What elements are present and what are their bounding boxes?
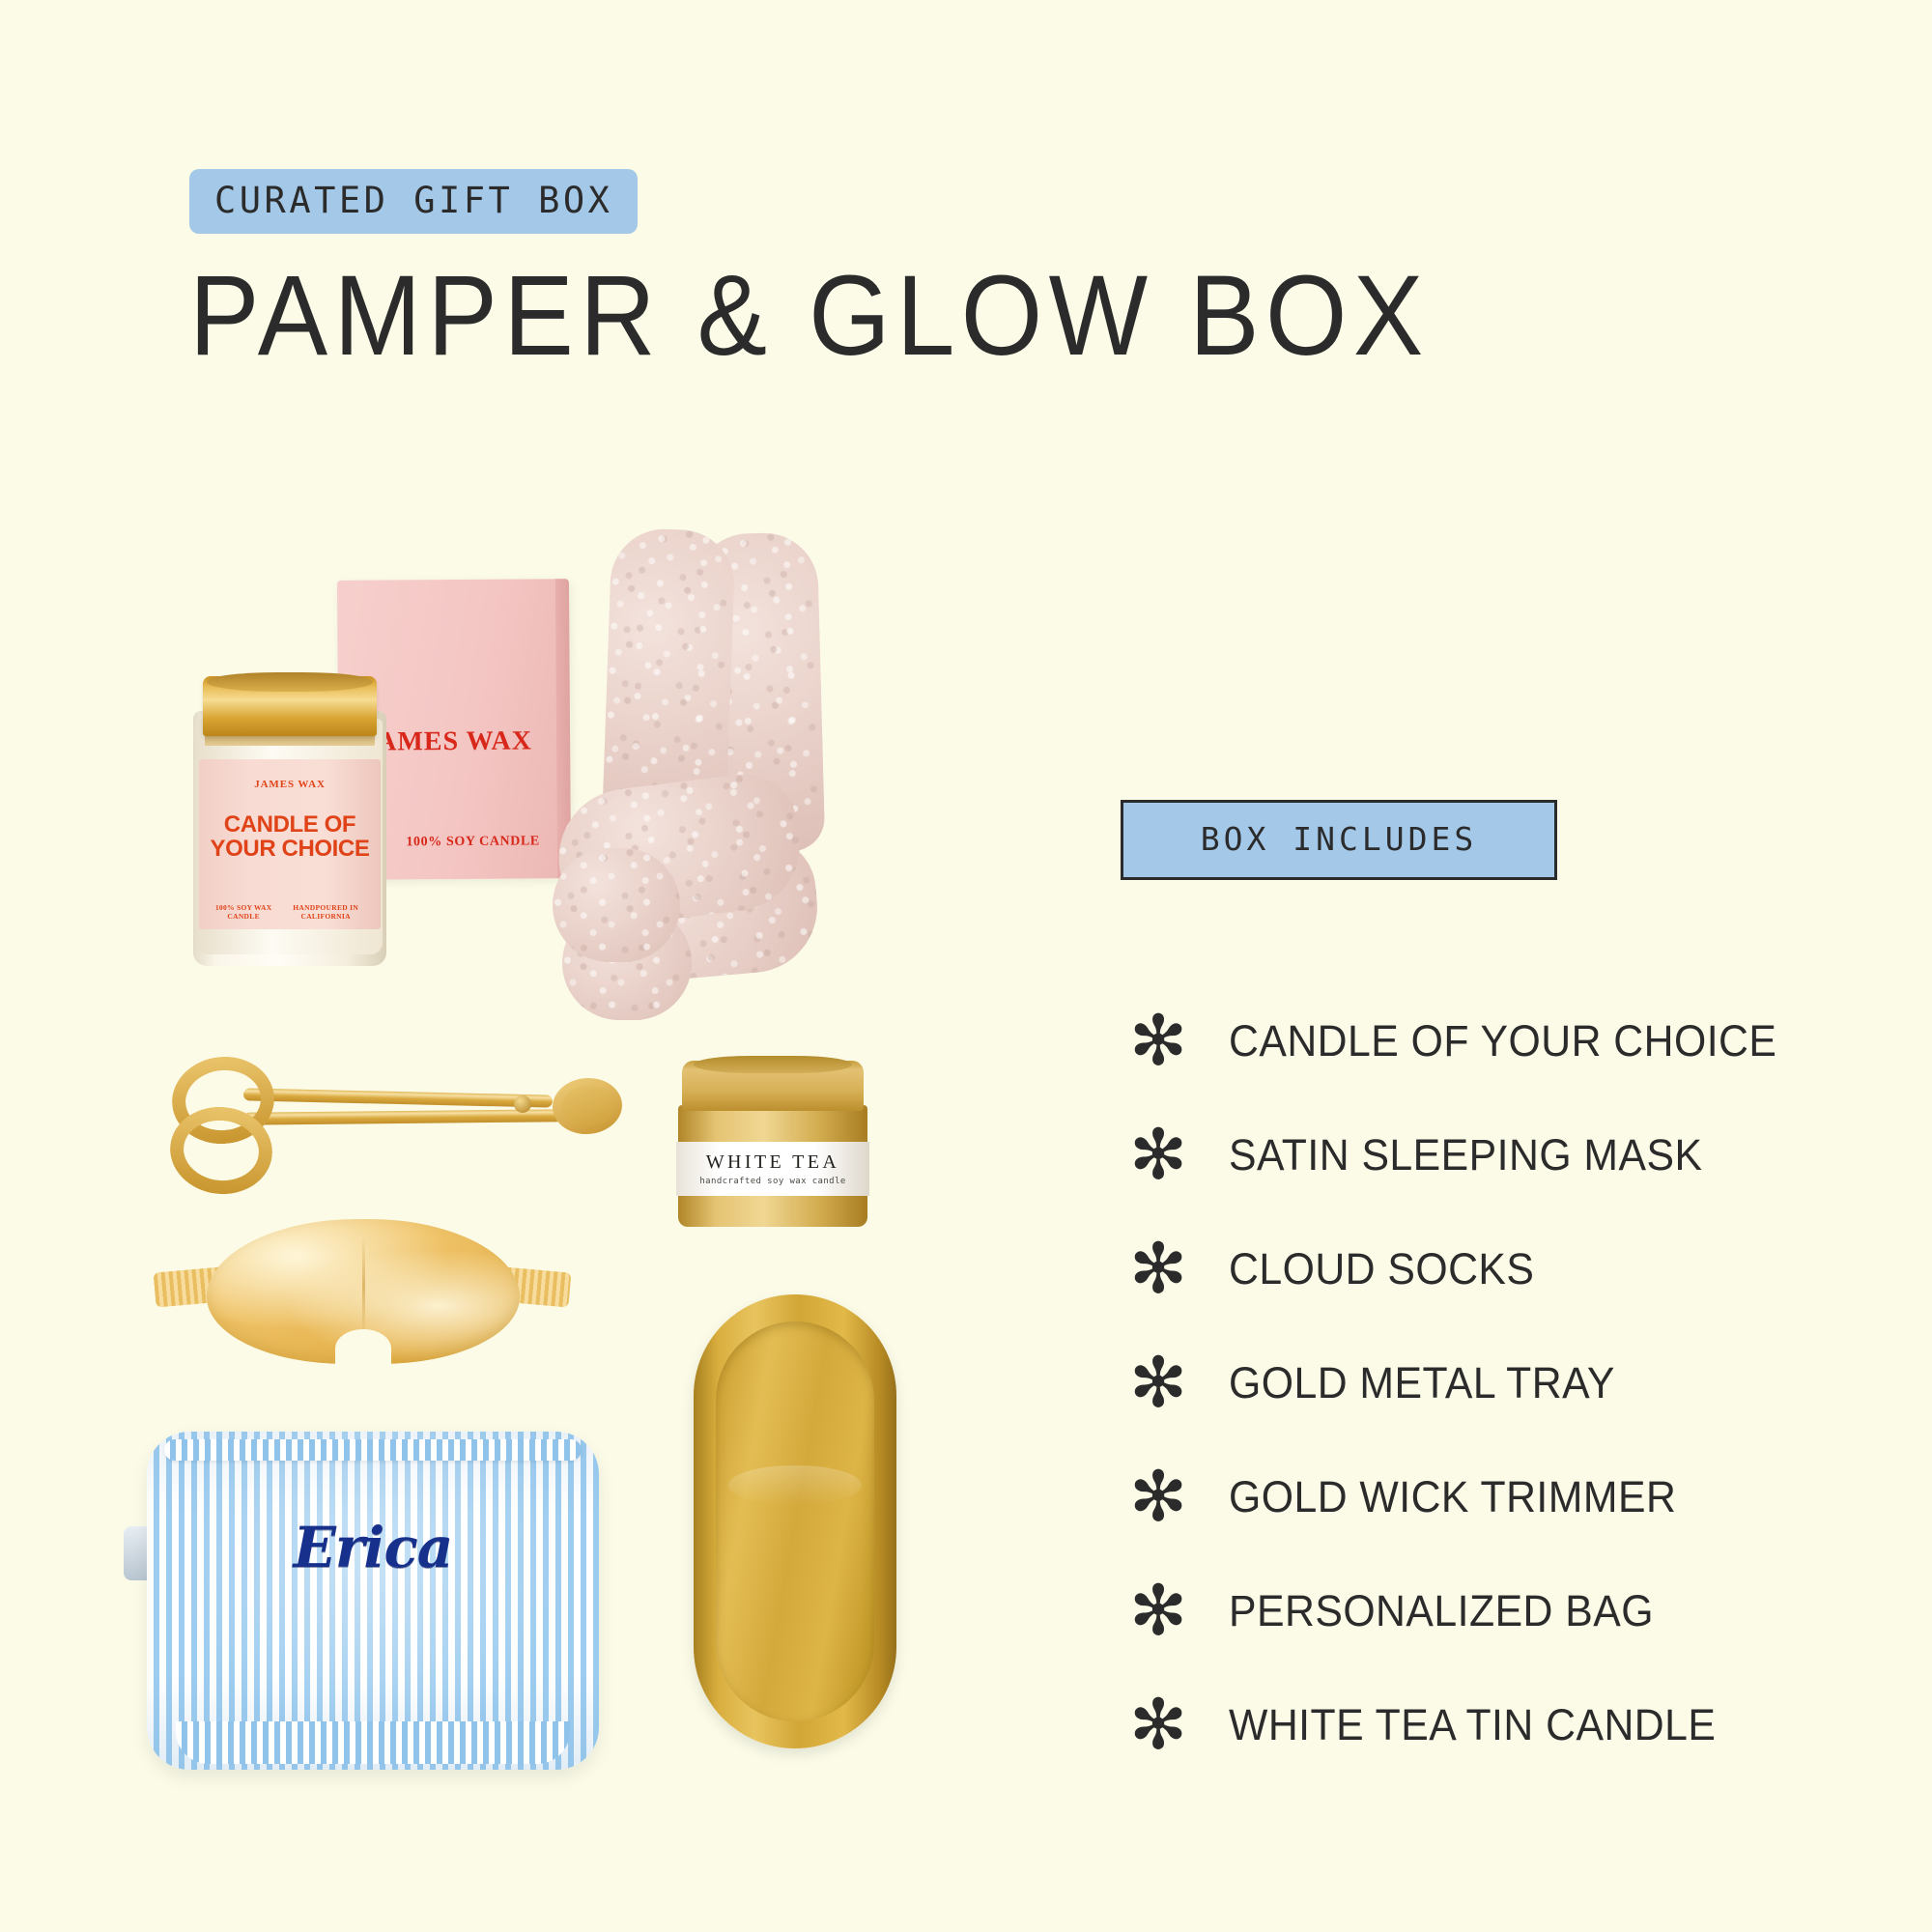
jar-label-footer: 100% SOY WAX CANDLE HANDPOURED IN CALIFO… (208, 903, 372, 921)
includes-item-label: PERSONALIZED BAG (1229, 1586, 1654, 1636)
bag-top-trim (164, 1439, 582, 1461)
tray-sheen (728, 1465, 862, 1505)
jar-lid-top (207, 672, 373, 692)
asterisk-icon: ✻ (1121, 1241, 1196, 1297)
includes-item-label: WHITE TEA TIN CANDLE (1229, 1700, 1716, 1750)
asterisk-icon: ✻ (1121, 1355, 1196, 1411)
trimmer-pivot-screw (514, 1095, 531, 1113)
box-includes-section: BOX INCLUDES ✻CANDLE OF YOUR CHOICE✻SATI… (1121, 800, 1797, 1782)
mask-nose-notch (335, 1329, 391, 1368)
asterisk-icon: ✻ (1121, 1583, 1196, 1639)
bag-bottom-trim (176, 1721, 570, 1764)
trimmer-arm-lower (243, 1109, 562, 1124)
includes-item: ✻CANDLE OF YOUR CHOICE (1121, 984, 1797, 1098)
sock-toe-front (553, 848, 680, 962)
tin-label-subtitle: handcrafted soy wax candle (676, 1177, 869, 1186)
tray-inner-well (716, 1321, 874, 1721)
jar-label-headline-line1: CANDLE OF (199, 813, 381, 838)
tin-lid-top (694, 1056, 852, 1073)
mask-center-seam (362, 1236, 365, 1337)
bag-shading (147, 1432, 599, 1770)
personalized-bag-image: Erica (147, 1432, 599, 1770)
includes-item-label: GOLD WICK TRIMMER (1229, 1472, 1676, 1522)
gold-metal-tray-image (694, 1294, 896, 1748)
jar-footer-right: HANDPOURED IN CALIFORNIA (279, 903, 372, 921)
includes-item: ✻PERSONALIZED BAG (1121, 1554, 1797, 1668)
includes-item: ✻WHITE TEA TIN CANDLE (1121, 1668, 1797, 1782)
jar-label-brand: JAMES WAX (199, 779, 381, 790)
includes-item: ✻CLOUD SOCKS (1121, 1212, 1797, 1326)
box-includes-list: ✻CANDLE OF YOUR CHOICE✻SATIN SLEEPING MA… (1121, 984, 1797, 1782)
tin-label: WHITE TEA handcrafted soy wax candle (676, 1142, 869, 1196)
trimmer-arm-upper (243, 1088, 553, 1107)
asterisk-icon: ✻ (1121, 1697, 1196, 1753)
includes-item-label: GOLD METAL TRAY (1229, 1358, 1615, 1408)
includes-item: ✻GOLD WICK TRIMMER (1121, 1440, 1797, 1554)
jar-label-headline-line2: YOUR CHOICE (199, 838, 381, 862)
includes-item-label: CLOUD SOCKS (1229, 1244, 1534, 1294)
white-tea-tin-candle-image: WHITE TEA handcrafted soy wax candle (676, 1061, 869, 1235)
includes-item-label: CANDLE OF YOUR CHOICE (1229, 1016, 1776, 1066)
jar-footer-left: 100% SOY WAX CANDLE (208, 903, 279, 921)
asterisk-icon: ✻ (1121, 1013, 1196, 1069)
jar-label: JAMES WAX CANDLE OF YOUR CHOICE 100% SOY… (199, 759, 381, 929)
includes-item: ✻SATIN SLEEPING MASK (1121, 1098, 1797, 1212)
mask-body (207, 1219, 520, 1364)
asterisk-icon: ✻ (1121, 1127, 1196, 1183)
satin-sleeping-mask-image (155, 1219, 570, 1383)
includes-item-label: SATIN SLEEPING MASK (1229, 1130, 1702, 1180)
product-collage: JAMES WAX 100% SOY CANDLE JAMES WAX CAND… (0, 0, 1082, 1932)
gold-wick-trimmer-image (166, 1053, 630, 1180)
jar-label-headline: CANDLE OF YOUR CHOICE (199, 813, 381, 862)
box-includes-badge: BOX INCLUDES (1121, 800, 1557, 880)
bag-monogram-name: Erica (147, 1515, 599, 1580)
asterisk-icon: ✻ (1121, 1469, 1196, 1525)
includes-item: ✻GOLD METAL TRAY (1121, 1326, 1797, 1440)
trimmer-head-inner (562, 1086, 614, 1126)
candle-jar-image: JAMES WAX CANDLE OF YOUR CHOICE 100% SOY… (193, 676, 386, 966)
tin-label-title: WHITE TEA (676, 1151, 869, 1174)
cloud-socks-image (553, 529, 852, 1051)
